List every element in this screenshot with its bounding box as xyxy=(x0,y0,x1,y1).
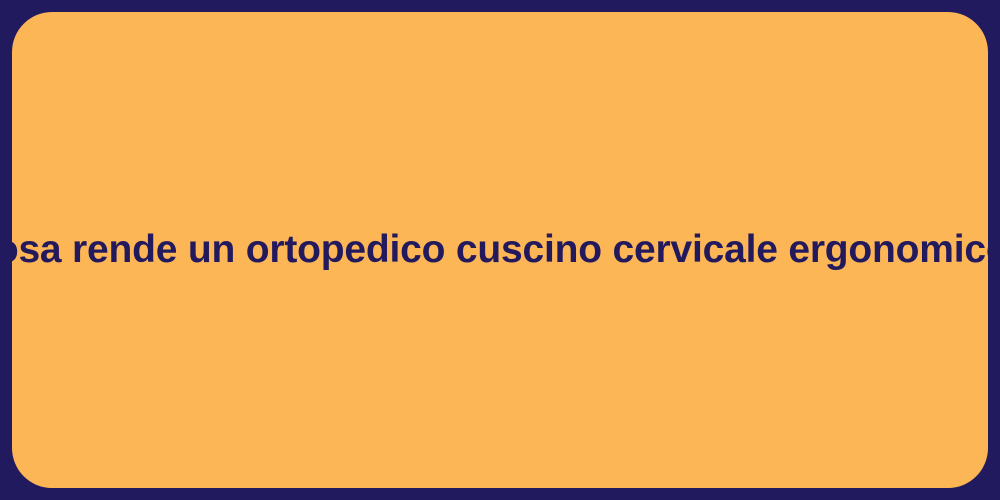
question-card: Cosa rende un ortopedico cuscino cervica… xyxy=(12,12,988,488)
card-headline: Cosa rende un ortopedico cuscino cervica… xyxy=(0,226,1000,275)
page-frame: Cosa rende un ortopedico cuscino cervica… xyxy=(0,0,1000,500)
